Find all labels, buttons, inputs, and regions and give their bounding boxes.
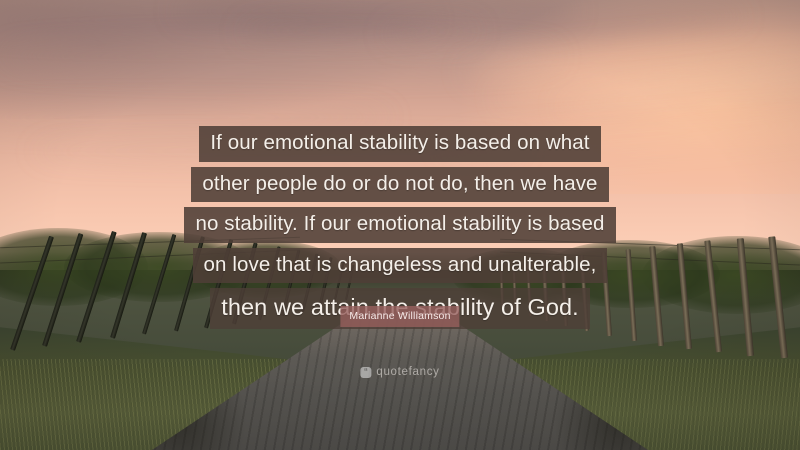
quote-author: Marianne Williamson	[340, 306, 459, 327]
quote-block: If our emotional stability is based on w…	[0, 126, 800, 329]
quote-line: no stability. If our emotional stability…	[184, 207, 615, 243]
quote-line: on love that is changeless and unalterab…	[193, 248, 608, 284]
quote-line: If our emotional stability is based on w…	[199, 126, 600, 162]
quote-mark-icon: “	[360, 367, 371, 378]
quote-wallpaper: If our emotional stability is based on w…	[0, 0, 800, 450]
watermark-brand: quotefancy	[376, 366, 439, 378]
watermark: “ quotefancy	[360, 366, 439, 378]
quote-line: other people do or do not do, then we ha…	[191, 167, 608, 203]
